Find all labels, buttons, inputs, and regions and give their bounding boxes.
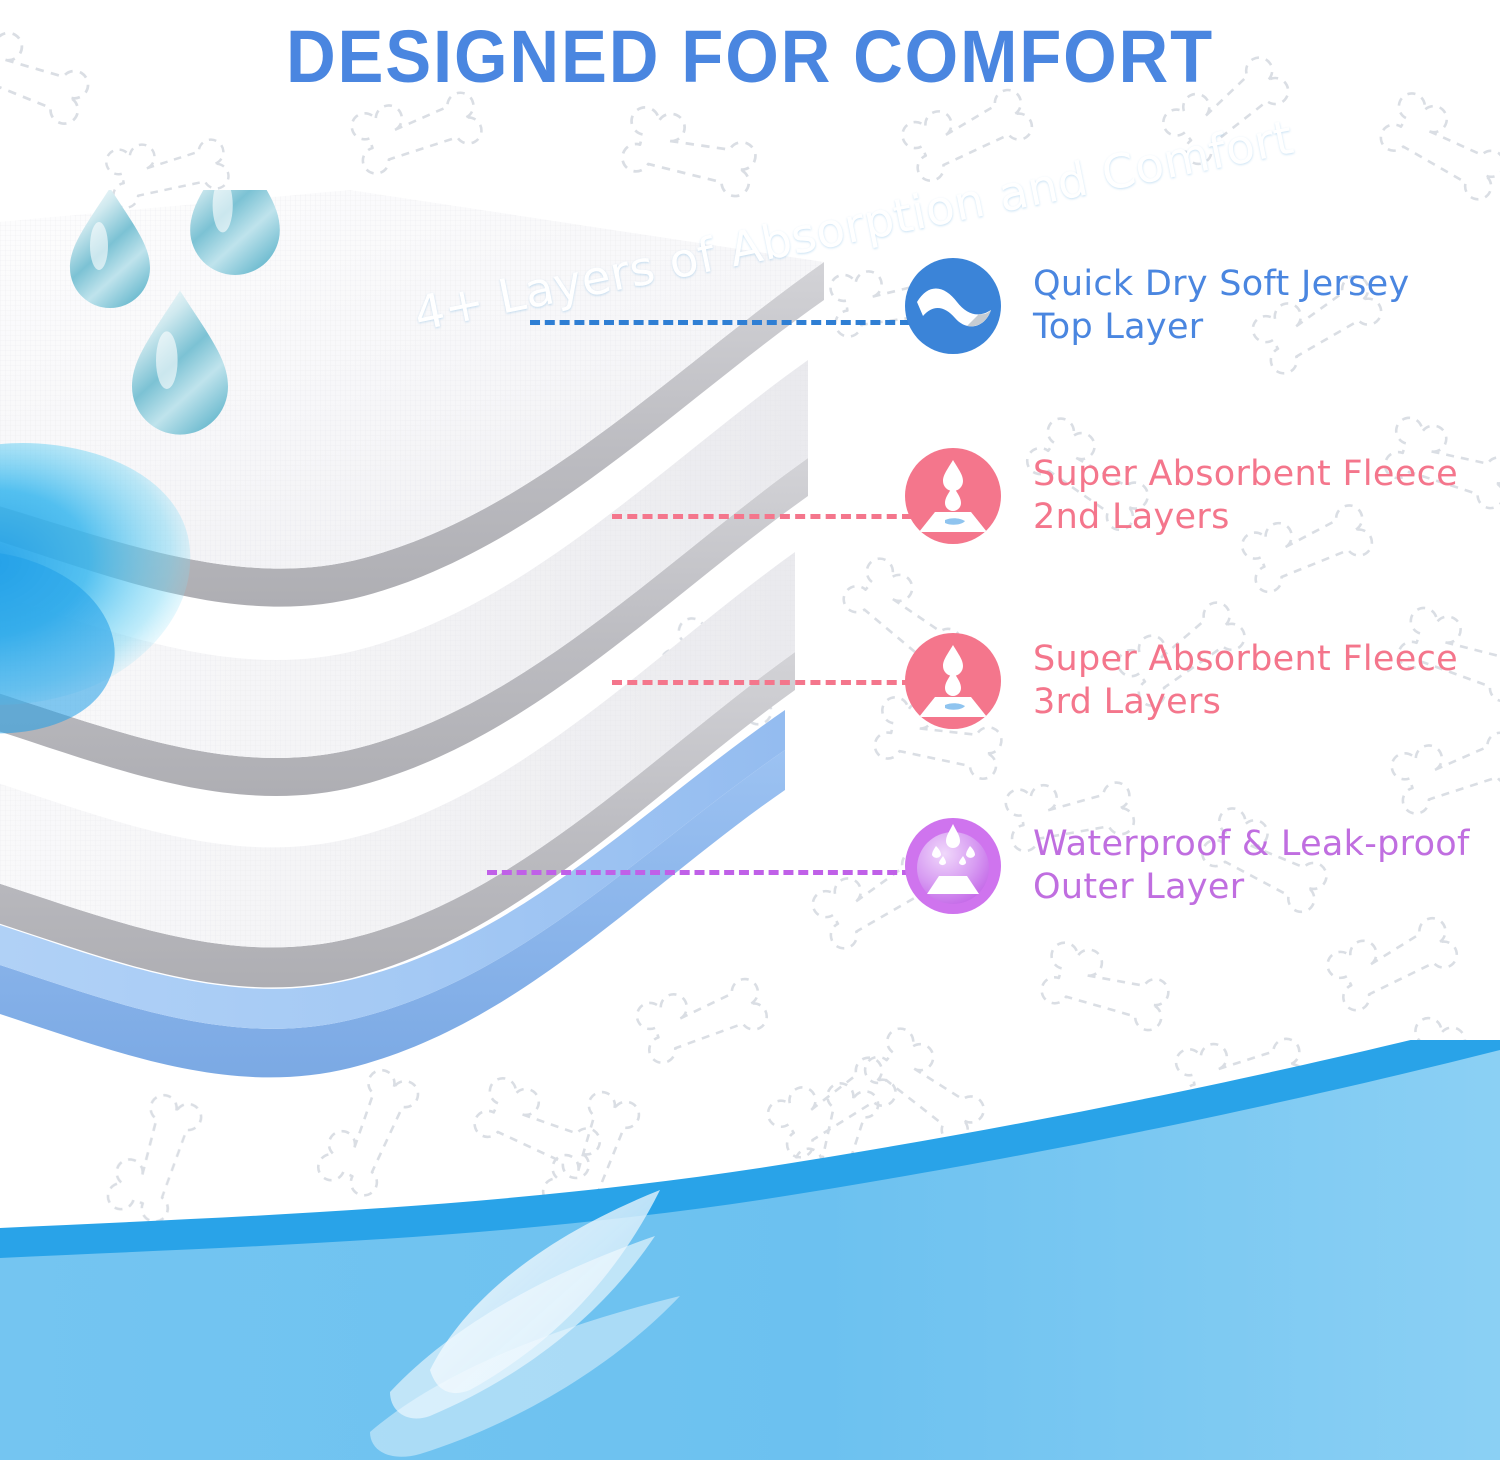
legend-line2: Top Layer <box>1033 306 1409 349</box>
absorbent-droplet-pad-icon <box>905 448 1001 544</box>
legend-label-2nd-layer: Super Absorbent Fleece 2nd Layers <box>1033 453 1458 538</box>
legend-label-top-layer: Quick Dry Soft Jersey Top Layer <box>1033 263 1409 348</box>
legend-line1: Super Absorbent Fleece <box>1033 454 1458 494</box>
bottom-wave-banner <box>0 1040 1500 1460</box>
legend-label-3rd-layer: Super Absorbent Fleece 3rd Layers <box>1033 638 1458 723</box>
legend-line2: Outer Layer <box>1033 866 1470 909</box>
legend-label-outer-layer: Waterproof & Leak-proof Outer Layer <box>1033 823 1470 908</box>
leader-line-2nd-layer <box>612 514 912 519</box>
fabric-wave-icon <box>905 258 1001 354</box>
waterproof-dome-icon <box>905 818 1001 914</box>
absorbent-droplet-pad-icon <box>905 633 1001 729</box>
leader-line-3rd-layer <box>612 680 912 685</box>
legend-line1: Quick Dry Soft Jersey <box>1033 264 1409 304</box>
leader-line-outer-layer <box>487 870 912 875</box>
legend-item-top-layer[interactable]: Quick Dry Soft Jersey Top Layer <box>905 258 1409 354</box>
legend-item-3rd-layer[interactable]: Super Absorbent Fleece 3rd Layers <box>905 633 1458 729</box>
legend-line1: Super Absorbent Fleece <box>1033 639 1458 679</box>
page-title: DESIGNED FOR COMFORT <box>53 14 1448 99</box>
leader-line-top-layer <box>530 320 910 325</box>
infographic-canvas: DESIGNED FOR COMFORT <box>0 0 1500 1460</box>
legend-item-2nd-layer[interactable]: Super Absorbent Fleece 2nd Layers <box>905 448 1458 544</box>
legend-item-outer-layer[interactable]: Waterproof & Leak-proof Outer Layer <box>905 818 1470 914</box>
legend-line2: 2nd Layers <box>1033 496 1458 539</box>
legend-line2: 3rd Layers <box>1033 681 1458 724</box>
legend-line1: Waterproof & Leak-proof <box>1033 824 1470 864</box>
